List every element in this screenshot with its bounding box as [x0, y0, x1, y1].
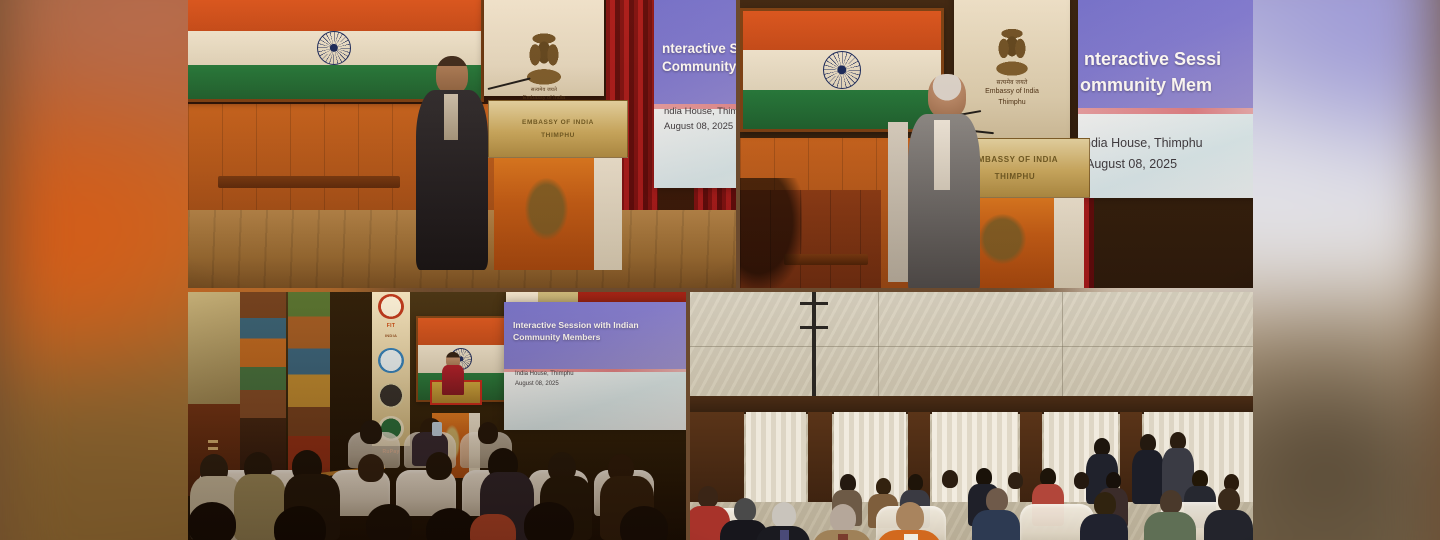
audience-head	[876, 478, 891, 495]
speaker-arm	[888, 122, 908, 282]
slide-subtitle-line1: ndia House, Thimphu	[664, 105, 736, 119]
sponsor-sub-0: INDIA	[385, 333, 397, 338]
lectern-nameplate-line2: THIMPHU	[541, 132, 575, 139]
audience-block	[690, 292, 1253, 540]
audience-head	[358, 454, 384, 482]
dress-shirt	[904, 534, 918, 540]
audience-saree	[470, 514, 516, 540]
photo-ambassador-speaking-closeup: सत्यमेव जयते Embassy of India Thimphu nt…	[740, 0, 1253, 288]
audience-head-front	[734, 498, 756, 522]
audience-torso	[1080, 514, 1128, 540]
lectern-emblem-icon	[979, 214, 1026, 264]
slide-title-line1: nteractive Sessi	[1084, 48, 1221, 71]
audience-head-front	[188, 502, 236, 540]
lectern: EMBASSY OF INDIA THIMPHU	[488, 100, 628, 270]
wall-shadow	[740, 178, 802, 288]
slide-subtitle-line2: August 08, 2025	[1086, 155, 1177, 173]
slide-subtitle-line2: August 08, 2025	[664, 120, 733, 134]
standee-line1: Embassy of India	[985, 88, 1039, 97]
lectern-emblem-icon	[525, 178, 569, 240]
speaker-figure	[900, 74, 982, 288]
slide-title-line1: Interactive Session with Indian	[513, 320, 639, 331]
audience-head	[1106, 472, 1121, 489]
sponsor-label-0: FIT	[387, 323, 395, 329]
photo-collage: सत्यमेव जयते Embassy of India Thimphu nt…	[188, 0, 1253, 540]
phone-screen	[432, 422, 442, 436]
art-panel-2	[288, 292, 330, 436]
lectern-nameplate: EMBASSY OF INDIA THIMPHU	[488, 100, 628, 158]
audience-head	[426, 452, 452, 480]
slide-title-line1: nteractive Session with Indian	[662, 40, 736, 57]
audience-head-front	[896, 502, 924, 532]
lectern-nameplate-line1: EMBASSY OF INDIA	[522, 119, 594, 126]
slide-title-line2: Community Members	[662, 58, 736, 75]
ashoka-emblem-icon	[516, 27, 571, 85]
audience-head-front	[524, 502, 574, 540]
speaker-shirt	[444, 94, 458, 140]
audience-head-front	[620, 506, 668, 540]
audience-head-front	[1094, 492, 1116, 516]
slide-subtitle-line1: India House, Thimphu	[515, 370, 574, 379]
flag-saffron-band	[418, 318, 504, 345]
projection-screen: nteractive Sessi ommunity Mem ndia House…	[1078, 0, 1253, 198]
audience-torso	[972, 510, 1020, 540]
fit-india-logo-icon	[378, 294, 403, 319]
slide-subtitle-line2: August 08, 2025	[515, 380, 559, 389]
flag-saffron-band	[743, 11, 941, 50]
embassy-standee: सत्यमेव जयते Embassy of India Thimphu	[484, 0, 604, 96]
audience-head	[942, 470, 958, 488]
necktie	[838, 534, 848, 540]
photo-speaker-at-podium-wide: सत्यमेव जयते Embassy of India Thimphu nt…	[188, 0, 736, 288]
slide-title-line2: Community Members	[513, 332, 600, 343]
audience-head-front	[1218, 488, 1240, 512]
slide-subtitle-line1: ndia House, Thimphu	[1084, 134, 1203, 152]
audience-head-front	[986, 488, 1008, 512]
audience-head-front	[1160, 490, 1182, 514]
speaker-figure	[440, 352, 466, 392]
audience-head-front	[698, 486, 718, 508]
art-panel-1	[240, 292, 286, 418]
ashoka-emblem-icon	[986, 23, 1037, 77]
speaker-head	[928, 74, 966, 118]
speaker-head	[436, 56, 468, 94]
audience-head	[1008, 472, 1023, 489]
audience-head-front	[772, 502, 796, 528]
projection-screen: Interactive Session with Indian Communit…	[504, 302, 686, 430]
jal-jeevan-logo-icon	[378, 348, 403, 373]
necktie	[780, 530, 789, 540]
lectern-nameplate-line1: EMBASSY OF INDIA	[972, 155, 1058, 164]
standee-line2: Thimphu	[998, 99, 1025, 108]
photo-audience-seated-front-rows	[690, 292, 1253, 540]
ashoka-chakra-icon	[317, 31, 351, 65]
speaker-figure	[410, 56, 490, 270]
speaker-torso	[442, 365, 464, 395]
textured-wall	[188, 292, 240, 410]
audience-head-front	[830, 504, 856, 532]
lectern-body	[494, 158, 623, 270]
photo-hall-wide-view-with-screen: FIT INDIA RuPay	[188, 292, 686, 540]
audience-head-front	[366, 504, 412, 540]
projection-screen: nteractive Session with Indian Community…	[654, 0, 736, 188]
audience-head	[360, 420, 382, 444]
audience-head	[478, 422, 498, 444]
audience-head	[1074, 472, 1089, 489]
lectern-nameplate-line2: THIMPHU	[995, 172, 1036, 181]
wood-trim	[218, 176, 400, 188]
audience-block	[188, 418, 686, 540]
ashoka-chakra-icon	[823, 51, 861, 89]
standee-motto: सत्यमेव जयते	[531, 87, 557, 93]
speaker-shirt	[934, 120, 950, 190]
flag-saffron-band	[188, 0, 481, 31]
digital-india-logo-icon	[378, 383, 403, 408]
audience-torso	[1132, 450, 1164, 504]
audience-torso	[1204, 510, 1253, 540]
slide-title-line2: ommunity Mem	[1080, 74, 1212, 97]
standee-motto: सत्यमेव जयते	[996, 78, 1027, 86]
audience-head	[908, 474, 923, 491]
audience-torso	[1144, 512, 1196, 540]
